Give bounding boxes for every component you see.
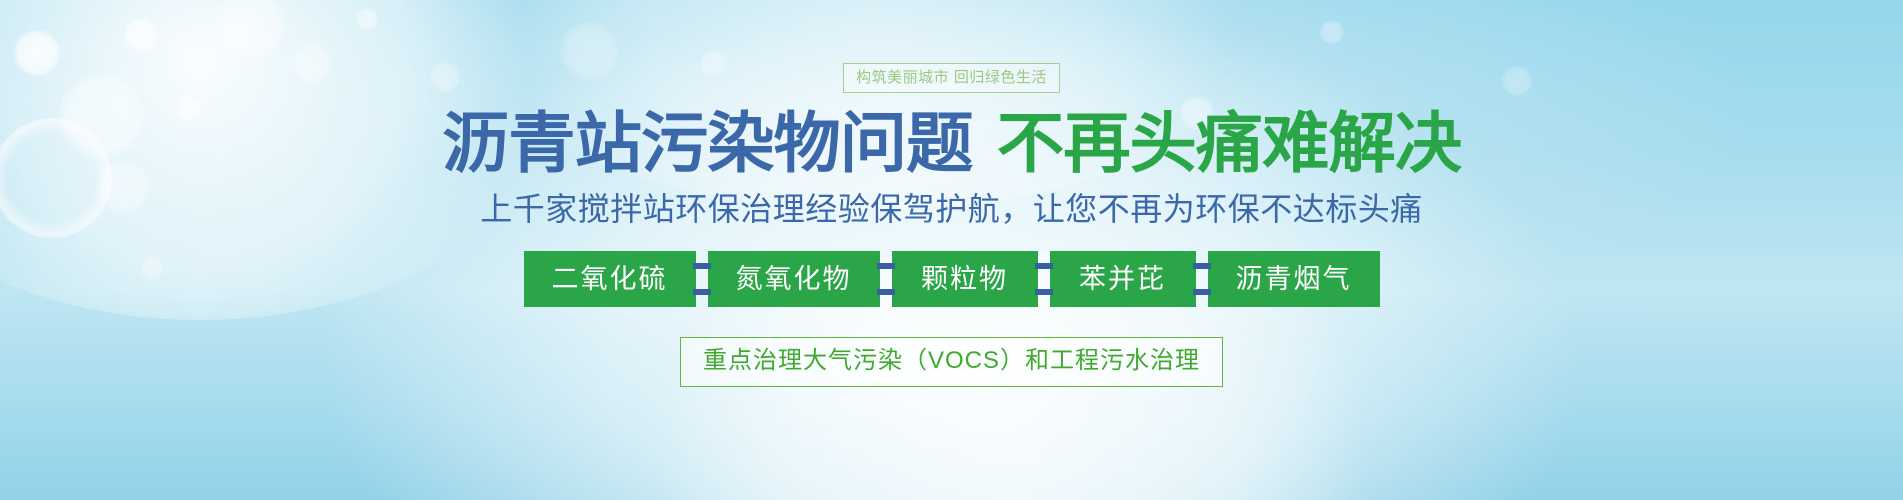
tagline-pill: 构筑美丽城市 回归绿色生活	[843, 63, 1060, 93]
tag-separator	[1196, 251, 1208, 307]
pollutant-tag-nitrogen-oxides[interactable]: 氮氧化物	[708, 251, 880, 307]
banner-content: 构筑美丽城市 回归绿色生活 沥青站污染物问题 不再头痛难解决 上千家搅拌站环保治…	[0, 0, 1903, 387]
tag-separator	[1038, 251, 1050, 307]
pollutant-tag-label: 苯并芘	[1079, 266, 1166, 293]
tag-separator	[696, 251, 708, 307]
pollutant-tag-sulfur-dioxide[interactable]: 二氧化硫	[524, 251, 696, 307]
hero-banner: 构筑美丽城市 回归绿色生活 沥青站污染物问题 不再头痛难解决 上千家搅拌站环保治…	[0, 0, 1903, 500]
sub-headline: 上千家搅拌站环保治理经验保驾护航，让您不再为环保不达标头痛	[480, 193, 1423, 225]
pollutant-tag-label: 沥青烟气	[1236, 266, 1352, 293]
page-title: 沥青站污染物问题 不再头痛难解决	[442, 111, 1461, 177]
footer-note-pill: 重点治理大气污染（VOCS）和工程污水治理	[680, 337, 1223, 387]
pollutant-tag-particulates[interactable]: 颗粒物	[892, 251, 1038, 307]
pollutant-tag-label: 颗粒物	[921, 266, 1008, 293]
headline-green-text: 不再头痛难解决	[997, 111, 1461, 177]
pollutant-tag-label: 氮氧化物	[736, 266, 852, 293]
pollutant-tag-label: 二氧化硫	[552, 266, 668, 293]
pollutant-tag-benzopyrene[interactable]: 苯并芘	[1050, 251, 1196, 307]
tag-separator	[880, 251, 892, 307]
pollutant-tag-row: 二氧化硫 氮氧化物 颗粒物 苯并芘 沥青烟气	[524, 251, 1380, 307]
pollutant-tag-asphalt-fumes[interactable]: 沥青烟气	[1208, 251, 1380, 307]
headline-blue-text: 沥青站污染物问题	[442, 111, 972, 177]
